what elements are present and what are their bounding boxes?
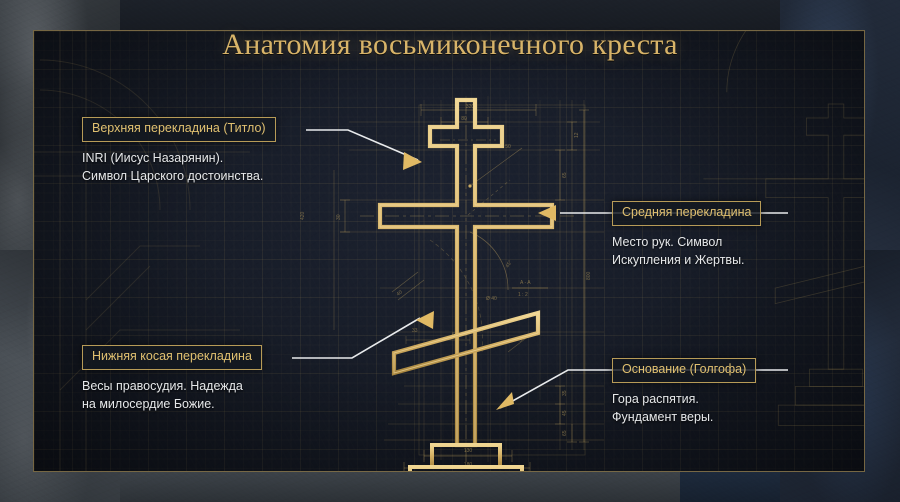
callout-description-upper-crossbar: INRI (Иисус Назарянин). Символ Царского … xyxy=(82,149,276,185)
svg-text:800: 800 xyxy=(586,271,592,280)
leader-arrowheads xyxy=(403,152,556,410)
callout-label-base-golgotha[interactable]: Основание (Голгофа) xyxy=(612,358,756,383)
screenshot-stage: Анатомия восьмиконечного креста xyxy=(0,0,900,502)
callout-label-upper-crossbar[interactable]: Верхняя перекладина (Титло) xyxy=(82,117,276,142)
base-step-bottom xyxy=(384,491,548,502)
callout-upper-crossbar[interactable]: Верхняя перекладина (Титло) INRI (Иисус … xyxy=(82,117,276,185)
svg-text:130: 130 xyxy=(464,448,473,454)
svg-text:1 : 2: 1 : 2 xyxy=(518,292,528,298)
callout-description-middle-crossbar: Место рук. Символ Искупления и Жертвы. xyxy=(612,233,761,269)
callout-description-base-golgotha: Гора распятия. Фундамент веры. xyxy=(612,390,756,426)
svg-text:A - A: A - A xyxy=(520,280,531,286)
callout-description-lower-slanted-crossbar: Весы правосудия. Надежда на милосердие Б… xyxy=(82,377,262,413)
svg-text:80: 80 xyxy=(461,116,467,122)
svg-text:12: 12 xyxy=(574,132,580,138)
svg-text:35: 35 xyxy=(562,390,568,396)
page-title: Анатомия восьмиконечного креста xyxy=(0,28,900,62)
svg-text:65: 65 xyxy=(562,430,568,436)
svg-text:30: 30 xyxy=(336,214,342,220)
svg-text:65: 65 xyxy=(562,172,568,178)
callout-base-golgotha[interactable]: Основание (Голгофа) Гора распятия. Фунда… xyxy=(612,358,756,426)
svg-text:33: 33 xyxy=(412,328,418,334)
callout-lower-slanted-crossbar[interactable]: Нижняя косая перекладина Весы правосудия… xyxy=(82,345,262,413)
leader-line-upper-crossbar xyxy=(306,130,418,160)
svg-text:420: 420 xyxy=(300,211,306,220)
cross-technical-drawing: 320 80 Ø 50 45° 30 65 12 800 33 60 130 1… xyxy=(0,0,900,502)
callout-middle-crossbar[interactable]: Средняя перекладина Место рук. Символ Ис… xyxy=(612,201,761,269)
callout-label-middle-crossbar[interactable]: Средняя перекладина xyxy=(612,201,761,226)
svg-text:45: 45 xyxy=(562,410,568,416)
svg-text:Ø 40: Ø 40 xyxy=(486,296,497,302)
callout-label-lower-slanted-crossbar[interactable]: Нижняя косая перекладина xyxy=(82,345,262,370)
base-step-middle xyxy=(410,467,522,491)
